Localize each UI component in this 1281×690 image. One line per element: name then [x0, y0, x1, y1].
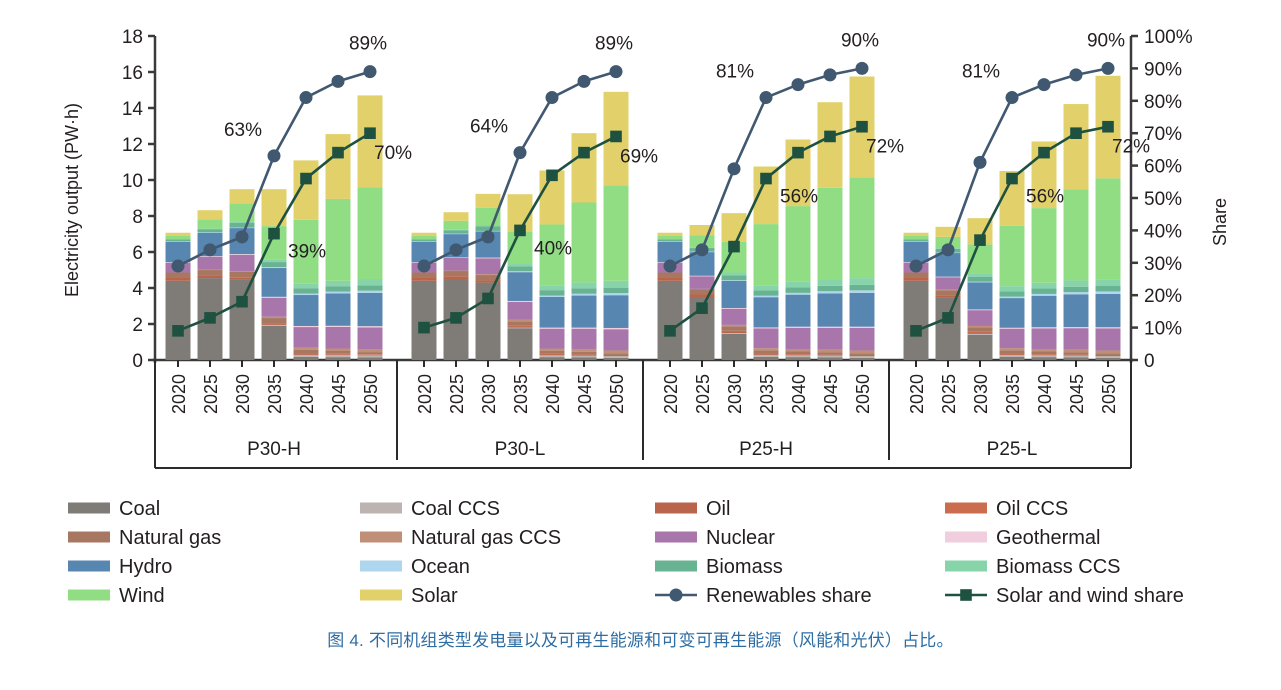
- bar-segment-oil[interactable]: [572, 355, 597, 356]
- bar-segment-solar[interactable]: [476, 194, 501, 208]
- bar-segment-natural-gas-ccs[interactable]: [786, 349, 811, 352]
- bar-segment-ocean[interactable]: [540, 296, 565, 297]
- bar-segment-nuclear[interactable]: [1064, 328, 1089, 350]
- bar-segment-nuclear[interactable]: [508, 302, 533, 320]
- marker-solar-wind-share[interactable]: [792, 147, 804, 159]
- bar-segment-biomass[interactable]: [818, 286, 843, 291]
- marker-renewables-share[interactable]: [1006, 91, 1019, 104]
- marker-renewables-share[interactable]: [236, 230, 249, 243]
- bar-segment-geothermal[interactable]: [326, 326, 351, 327]
- bar-segment-biomass-ccs[interactable]: [1096, 279, 1121, 286]
- bar-segment-ocean[interactable]: [166, 241, 191, 242]
- bar-segment-biomass-ccs[interactable]: [968, 274, 993, 277]
- bar-segment-hydro[interactable]: [166, 242, 191, 263]
- bar-segment-hydro[interactable]: [1064, 294, 1089, 327]
- bar-segment-wind[interactable]: [754, 224, 779, 285]
- marker-renewables-share[interactable]: [728, 162, 741, 175]
- marker-solar-wind-share[interactable]: [1038, 147, 1050, 159]
- stacked-bar[interactable]: [1032, 141, 1057, 360]
- bar-segment-natural-gas[interactable]: [508, 321, 533, 326]
- bar-segment-geothermal[interactable]: [508, 301, 533, 302]
- bar-segment-coal[interactable]: [540, 357, 565, 360]
- bar-segment-biomass[interactable]: [444, 230, 469, 233]
- bar-segment-wind[interactable]: [1096, 178, 1121, 279]
- bar-segment-coal-ccs[interactable]: [1032, 355, 1057, 357]
- marker-solar-wind-share[interactable]: [418, 322, 430, 334]
- bar-segment-natural-gas[interactable]: [786, 352, 811, 355]
- bar-segment-coal[interactable]: [1064, 357, 1089, 360]
- bar-segment-wind[interactable]: [786, 206, 811, 282]
- bar-segment-natural-gas-ccs[interactable]: [326, 348, 351, 351]
- bar-segment-solar[interactable]: [326, 134, 351, 199]
- bar-segment-geothermal[interactable]: [936, 277, 961, 278]
- bar-segment-natural-gas[interactable]: [1000, 350, 1025, 353]
- bar-segment-oil[interactable]: [690, 294, 715, 297]
- bar-segment-oil[interactable]: [658, 278, 683, 281]
- bar-segment-oil[interactable]: [786, 355, 811, 356]
- bar-segment-geothermal[interactable]: [540, 328, 565, 329]
- stacked-bar[interactable]: [572, 133, 597, 360]
- bar-segment-natural-gas[interactable]: [358, 352, 383, 354]
- stacked-bar[interactable]: [198, 210, 223, 360]
- bar-segment-nuclear[interactable]: [326, 327, 351, 349]
- marker-renewables-share[interactable]: [792, 78, 805, 91]
- bar-segment-hydro[interactable]: [572, 296, 597, 328]
- bar-segment-natural-gas[interactable]: [754, 350, 779, 353]
- marker-solar-wind-share[interactable]: [236, 296, 248, 308]
- bar-segment-geothermal[interactable]: [358, 326, 383, 327]
- bar-segment-biomass[interactable]: [968, 277, 993, 282]
- bar-segment-coal[interactable]: [262, 326, 287, 360]
- bar-segment-nuclear[interactable]: [786, 328, 811, 349]
- marker-solar-wind-share[interactable]: [332, 147, 344, 159]
- bar-segment-solar[interactable]: [818, 102, 843, 187]
- marker-renewables-share[interactable]: [514, 146, 527, 159]
- bar-segment-oil-ccs[interactable]: [968, 332, 993, 333]
- bar-segment-natural-gas-ccs[interactable]: [230, 271, 255, 272]
- bar-segment-ocean[interactable]: [1032, 294, 1057, 296]
- bar-segment-wind[interactable]: [412, 236, 437, 239]
- bar-segment-natural-gas[interactable]: [1064, 352, 1089, 354]
- bar-segment-wind[interactable]: [358, 187, 383, 279]
- legend-item-oil-ccs[interactable]: Oil CCS: [945, 498, 1068, 520]
- bar-segment-ocean[interactable]: [444, 234, 469, 235]
- bar-segment-coal[interactable]: [754, 357, 779, 360]
- bar-segment-hydro[interactable]: [936, 253, 961, 277]
- bar-segment-biomass-ccs[interactable]: [1000, 286, 1025, 291]
- bar-segment-natural-gas-ccs[interactable]: [540, 348, 565, 350]
- bar-segment-oil[interactable]: [904, 278, 929, 281]
- bar-segment-oil-ccs[interactable]: [850, 355, 875, 356]
- marker-solar-wind-share[interactable]: [910, 325, 922, 337]
- bar-segment-biomass[interactable]: [850, 285, 875, 290]
- bar-segment-hydro[interactable]: [754, 297, 779, 327]
- bar-segment-natural-gas-ccs[interactable]: [754, 348, 779, 350]
- bar-segment-biomass[interactable]: [326, 286, 351, 291]
- bar-segment-oil[interactable]: [412, 278, 437, 281]
- bar-segment-solar[interactable]: [198, 210, 223, 219]
- marker-solar-wind-share[interactable]: [696, 302, 708, 314]
- bar-segment-oil[interactable]: [850, 356, 875, 357]
- marker-renewables-share[interactable]: [1038, 78, 1051, 91]
- bar-segment-coal-ccs[interactable]: [326, 355, 351, 357]
- bar-segment-natural-gas[interactable]: [412, 273, 437, 278]
- bar-segment-coal-ccs[interactable]: [508, 328, 533, 329]
- bar-segment-oil-ccs[interactable]: [262, 323, 287, 324]
- bar-segment-ocean[interactable]: [818, 291, 843, 293]
- bar-segment-coal[interactable]: [904, 281, 929, 360]
- bar-segment-solar[interactable]: [1064, 104, 1089, 190]
- bar-segment-coal[interactable]: [818, 357, 843, 360]
- marker-solar-wind-share[interactable]: [1006, 173, 1018, 185]
- marker-renewables-share[interactable]: [664, 260, 677, 273]
- bar-segment-geothermal[interactable]: [1096, 327, 1121, 328]
- bar-segment-geothermal[interactable]: [444, 257, 469, 258]
- bar-segment-coal-ccs[interactable]: [1064, 356, 1089, 358]
- bar-segment-oil-ccs[interactable]: [358, 354, 383, 355]
- bar-segment-oil[interactable]: [294, 354, 319, 355]
- bar-segment-natural-gas[interactable]: [722, 326, 747, 331]
- bar-segment-biomass[interactable]: [754, 290, 779, 295]
- bar-segment-ocean[interactable]: [786, 293, 811, 295]
- bar-segment-oil[interactable]: [1000, 354, 1025, 355]
- bar-segment-natural-gas-ccs[interactable]: [936, 290, 961, 291]
- marker-solar-wind-share[interactable]: [610, 131, 622, 143]
- bar-segment-geothermal[interactable]: [604, 328, 629, 329]
- legend-item-solar-and-wind-share[interactable]: Solar and wind share: [945, 585, 1184, 607]
- bar-segment-biomass[interactable]: [658, 239, 683, 241]
- bar-segment-natural-gas-ccs[interactable]: [444, 271, 469, 272]
- bar-segment-natural-gas[interactable]: [1032, 352, 1057, 355]
- bar-segment-coal-ccs[interactable]: [540, 355, 565, 357]
- bar-segment-oil-ccs[interactable]: [818, 355, 843, 356]
- bar-segment-natural-gas[interactable]: [444, 271, 469, 276]
- marker-renewables-share[interactable]: [578, 75, 591, 88]
- bar-segment-hydro[interactable]: [850, 293, 875, 327]
- stacked-bar[interactable]: [850, 77, 875, 361]
- legend-item-nuclear[interactable]: Nuclear: [655, 527, 775, 549]
- bar-segment-nuclear[interactable]: [1000, 329, 1025, 348]
- bar-segment-hydro[interactable]: [968, 282, 993, 309]
- bar-segment-coal-ccs[interactable]: [604, 356, 629, 358]
- bar-segment-nuclear[interactable]: [850, 328, 875, 351]
- bar-segment-hydro[interactable]: [326, 293, 351, 325]
- bar-segment-geothermal[interactable]: [294, 326, 319, 327]
- bar-segment-oil[interactable]: [722, 331, 747, 333]
- marker-renewables-share[interactable]: [300, 91, 313, 104]
- bar-segment-natural-gas[interactable]: [166, 273, 191, 278]
- bar-segment-biomass-ccs[interactable]: [604, 281, 629, 288]
- bar-segment-natural-gas-ccs[interactable]: [968, 326, 993, 327]
- bar-segment-natural-gas-ccs[interactable]: [722, 325, 747, 326]
- stacked-bar[interactable]: [1096, 76, 1121, 360]
- stacked-bar[interactable]: [722, 213, 747, 360]
- bar-segment-nuclear[interactable]: [754, 328, 779, 348]
- bar-segment-biomass-ccs[interactable]: [476, 225, 501, 226]
- bar-segment-natural-gas-ccs[interactable]: [262, 317, 287, 318]
- bar-segment-coal[interactable]: [658, 281, 683, 360]
- bar-segment-wind[interactable]: [1032, 208, 1057, 283]
- bar-segment-biomass[interactable]: [1096, 286, 1121, 291]
- marker-renewables-share[interactable]: [942, 243, 955, 256]
- marker-solar-wind-share[interactable]: [268, 228, 280, 240]
- bar-segment-wind[interactable]: [198, 219, 223, 228]
- marker-solar-wind-share[interactable]: [1070, 127, 1082, 139]
- bar-segment-hydro[interactable]: [658, 242, 683, 263]
- bar-segment-solar[interactable]: [572, 133, 597, 202]
- bar-segment-ocean[interactable]: [604, 293, 629, 295]
- legend-item-oil[interactable]: Oil: [655, 498, 730, 520]
- bar-segment-geothermal[interactable]: [818, 327, 843, 328]
- marker-solar-wind-share[interactable]: [578, 147, 590, 159]
- bar-segment-natural-gas[interactable]: [294, 350, 319, 354]
- bar-segment-coal-ccs[interactable]: [968, 334, 993, 335]
- bar-segment-natural-gas[interactable]: [540, 351, 565, 354]
- marker-solar-wind-share[interactable]: [1102, 121, 1114, 133]
- bar-segment-nuclear[interactable]: [198, 257, 223, 270]
- bar-segment-natural-gas-ccs[interactable]: [358, 349, 383, 352]
- bar-segment-natural-gas[interactable]: [818, 352, 843, 354]
- bar-segment-geothermal[interactable]: [850, 327, 875, 328]
- bar-segment-wind[interactable]: [818, 188, 843, 280]
- bar-segment-biomass[interactable]: [904, 239, 929, 241]
- bar-segment-coal[interactable]: [936, 298, 961, 360]
- legend-item-biomass[interactable]: Biomass: [655, 556, 783, 578]
- bar-segment-coal[interactable]: [572, 357, 597, 360]
- marker-solar-wind-share[interactable]: [728, 241, 740, 253]
- bar-segment-biomass-ccs[interactable]: [294, 284, 319, 289]
- marker-solar-wind-share[interactable]: [514, 225, 526, 237]
- bar-segment-natural-gas-ccs[interactable]: [572, 349, 597, 352]
- marker-renewables-share[interactable]: [364, 65, 377, 78]
- bar-segment-wind[interactable]: [1064, 190, 1089, 281]
- bar-segment-ocean[interactable]: [1000, 297, 1025, 298]
- bar-segment-natural-gas[interactable]: [968, 327, 993, 331]
- marker-renewables-share[interactable]: [268, 149, 281, 162]
- bar-segment-ocean[interactable]: [294, 294, 319, 295]
- marker-solar-wind-share[interactable]: [856, 121, 868, 133]
- bar-segment-nuclear[interactable]: [968, 310, 993, 326]
- bar-segment-biomass-ccs[interactable]: [850, 278, 875, 285]
- bar-segment-coal[interactable]: [604, 358, 629, 360]
- bar-segment-coal[interactable]: [230, 280, 255, 360]
- legend-item-geothermal[interactable]: Geothermal: [945, 527, 1101, 549]
- bar-segment-oil-ccs[interactable]: [1064, 355, 1089, 356]
- bar-segment-biomass[interactable]: [166, 239, 191, 241]
- bar-segment-hydro[interactable]: [262, 268, 287, 297]
- bar-segment-wind[interactable]: [604, 185, 629, 280]
- bar-segment-geothermal[interactable]: [262, 297, 287, 298]
- bar-segment-ocean[interactable]: [722, 280, 747, 281]
- bar-segment-biomass[interactable]: [294, 288, 319, 293]
- bar-segment-oil[interactable]: [326, 354, 351, 355]
- bar-segment-geothermal[interactable]: [572, 328, 597, 329]
- marker-solar-wind-share[interactable]: [482, 293, 494, 305]
- bar-segment-hydro[interactable]: [1000, 298, 1025, 328]
- marker-solar-wind-share[interactable]: [204, 312, 216, 324]
- stacked-bar[interactable]: [1064, 104, 1089, 360]
- bar-segment-biomass-ccs[interactable]: [786, 282, 811, 288]
- bar-segment-oil-ccs[interactable]: [326, 354, 351, 355]
- bar-segment-hydro[interactable]: [722, 281, 747, 308]
- bar-segment-oil[interactable]: [1032, 355, 1057, 356]
- bar-segment-coal-ccs[interactable]: [358, 355, 383, 357]
- bar-segment-natural-gas[interactable]: [262, 318, 287, 323]
- bar-segment-oil-ccs[interactable]: [1000, 354, 1025, 355]
- marker-renewables-share[interactable]: [824, 68, 837, 81]
- bar-segment-ocean[interactable]: [198, 232, 223, 233]
- bar-segment-biomass-ccs[interactable]: [722, 273, 747, 276]
- marker-solar-wind-share[interactable]: [760, 173, 772, 185]
- bar-segment-geothermal[interactable]: [1032, 327, 1057, 328]
- bar-segment-coal-ccs[interactable]: [572, 356, 597, 358]
- legend-item-wind[interactable]: Wind: [68, 585, 165, 607]
- bar-segment-natural-gas-ccs[interactable]: [198, 270, 223, 271]
- bar-segment-natural-gas-ccs[interactable]: [818, 350, 843, 353]
- stacked-bar[interactable]: [540, 170, 565, 360]
- bar-segment-biomass-ccs[interactable]: [444, 230, 469, 231]
- bar-segment-coal[interactable]: [1000, 357, 1025, 360]
- bar-segment-hydro[interactable]: [604, 295, 629, 328]
- marker-solar-wind-share[interactable]: [664, 325, 676, 337]
- bar-segment-biomass[interactable]: [1064, 287, 1089, 292]
- bar-segment-wind[interactable]: [1000, 226, 1025, 286]
- bar-segment-biomass[interactable]: [540, 290, 565, 295]
- bar-segment-biomass-ccs[interactable]: [326, 281, 351, 286]
- legend-item-renewables-share[interactable]: Renewables share: [655, 585, 872, 607]
- bar-segment-biomass-ccs[interactable]: [818, 280, 843, 286]
- bar-segment-geothermal[interactable]: [786, 327, 811, 328]
- marker-renewables-share[interactable]: [204, 243, 217, 256]
- marker-renewables-share[interactable]: [696, 243, 709, 256]
- bar-segment-nuclear[interactable]: [722, 309, 747, 325]
- bar-segment-oil[interactable]: [604, 356, 629, 357]
- bar-segment-oil[interactable]: [230, 278, 255, 280]
- bar-segment-biomass[interactable]: [262, 262, 287, 267]
- bar-segment-natural-gas[interactable]: [658, 273, 683, 278]
- bar-segment-coal-ccs[interactable]: [786, 355, 811, 357]
- bar-segment-coal-ccs[interactable]: [262, 325, 287, 326]
- bar-segment-ocean[interactable]: [262, 267, 287, 268]
- bar-segment-biomass[interactable]: [1032, 289, 1057, 294]
- bar-segment-natural-gas-ccs[interactable]: [1032, 349, 1057, 352]
- marker-renewables-share[interactable]: [1070, 68, 1083, 81]
- bar-segment-nuclear[interactable]: [262, 298, 287, 317]
- bar-segment-ocean[interactable]: [508, 271, 533, 272]
- bar-segment-hydro[interactable]: [412, 242, 437, 263]
- bar-segment-oil[interactable]: [198, 275, 223, 278]
- legend-item-natural-gas-ccs[interactable]: Natural gas CCS: [360, 527, 561, 549]
- bar-segment-geothermal[interactable]: [690, 276, 715, 277]
- bar-segment-solar[interactable]: [230, 189, 255, 203]
- bar-segment-oil[interactable]: [444, 276, 469, 279]
- bar-segment-coal[interactable]: [1032, 357, 1057, 360]
- bar-segment-solar[interactable]: [294, 160, 319, 219]
- bar-segment-geothermal[interactable]: [1000, 328, 1025, 329]
- bar-segment-natural-gas[interactable]: [1096, 353, 1121, 355]
- bar-segment-biomass[interactable]: [1000, 291, 1025, 296]
- bar-segment-coal-ccs[interactable]: [1000, 355, 1025, 357]
- bar-segment-geothermal[interactable]: [754, 327, 779, 328]
- bar-segment-oil[interactable]: [818, 355, 843, 356]
- bar-segment-biomass-ccs[interactable]: [572, 283, 597, 289]
- bar-segment-nuclear[interactable]: [1096, 329, 1121, 351]
- legend-item-coal-ccs[interactable]: Coal CCS: [360, 498, 500, 520]
- bar-segment-oil-ccs[interactable]: [1032, 354, 1057, 355]
- bar-segment-hydro[interactable]: [904, 242, 929, 263]
- bar-segment-biomass[interactable]: [230, 223, 255, 228]
- bar-segment-biomass-ccs[interactable]: [230, 222, 255, 223]
- legend-item-natural-gas[interactable]: Natural gas: [68, 527, 221, 549]
- bar-segment-wind[interactable]: [326, 199, 351, 281]
- bar-segment-biomass[interactable]: [722, 275, 747, 280]
- bar-segment-natural-gas-ccs[interactable]: [476, 274, 501, 275]
- bar-segment-biomass-ccs[interactable]: [754, 285, 779, 290]
- bar-segment-solar[interactable]: [444, 212, 469, 221]
- bar-segment-nuclear[interactable]: [936, 277, 961, 290]
- bar-segment-ocean[interactable]: [658, 241, 683, 242]
- bar-segment-wind[interactable]: [850, 177, 875, 278]
- bar-segment-hydro[interactable]: [358, 293, 383, 326]
- bar-segment-oil-ccs[interactable]: [572, 354, 597, 355]
- marker-renewables-share[interactable]: [1102, 62, 1115, 75]
- bar-segment-coal-ccs[interactable]: [722, 333, 747, 334]
- bar-segment-nuclear[interactable]: [444, 258, 469, 271]
- bar-segment-nuclear[interactable]: [540, 329, 565, 349]
- bar-segment-natural-gas-ccs[interactable]: [850, 350, 875, 353]
- marker-renewables-share[interactable]: [418, 260, 431, 273]
- marker-renewables-share[interactable]: [856, 62, 869, 75]
- marker-renewables-share[interactable]: [482, 230, 495, 243]
- bar-segment-solar[interactable]: [658, 233, 683, 236]
- legend-item-coal[interactable]: Coal: [68, 498, 160, 520]
- marker-renewables-share[interactable]: [172, 260, 185, 273]
- stacked-bar[interactable]: [1000, 171, 1025, 360]
- marker-renewables-share[interactable]: [546, 91, 559, 104]
- bar-segment-hydro[interactable]: [1096, 294, 1121, 327]
- marker-solar-wind-share[interactable]: [172, 325, 184, 337]
- bar-segment-wind[interactable]: [166, 236, 191, 239]
- bar-segment-natural-gas[interactable]: [198, 270, 223, 275]
- bar-segment-oil-ccs[interactable]: [722, 331, 747, 332]
- bar-segment-nuclear[interactable]: [230, 255, 255, 271]
- bar-segment-biomass-ccs[interactable]: [540, 286, 565, 291]
- bar-segment-hydro[interactable]: [818, 293, 843, 326]
- bar-segment-biomass[interactable]: [508, 266, 533, 271]
- bar-segment-coal[interactable]: [358, 357, 383, 360]
- bar-segment-oil-ccs[interactable]: [754, 354, 779, 355]
- bar-segment-nuclear[interactable]: [358, 327, 383, 349]
- bar-segment-coal[interactable]: [508, 329, 533, 361]
- bar-segment-geothermal[interactable]: [722, 308, 747, 309]
- bar-segment-natural-gas-ccs[interactable]: [604, 350, 629, 353]
- bar-segment-geothermal[interactable]: [968, 309, 993, 310]
- stacked-bar[interactable]: [508, 194, 533, 360]
- bar-segment-coal[interactable]: [294, 357, 319, 360]
- bar-segment-coal-ccs[interactable]: [294, 355, 319, 357]
- bar-segment-solar[interactable]: [166, 233, 191, 236]
- bar-segment-oil-ccs[interactable]: [604, 355, 629, 356]
- marker-renewables-share[interactable]: [332, 75, 345, 88]
- bar-segment-wind[interactable]: [658, 236, 683, 239]
- bar-segment-biomass-ccs[interactable]: [1064, 280, 1089, 286]
- bar-segment-biomass-ccs[interactable]: [358, 279, 383, 285]
- bar-segment-biomass[interactable]: [476, 226, 501, 231]
- bar-segment-ocean[interactable]: [968, 282, 993, 283]
- bar-segment-ocean[interactable]: [230, 228, 255, 229]
- stacked-bar[interactable]: [412, 233, 437, 360]
- bar-segment-nuclear[interactable]: [1032, 328, 1057, 349]
